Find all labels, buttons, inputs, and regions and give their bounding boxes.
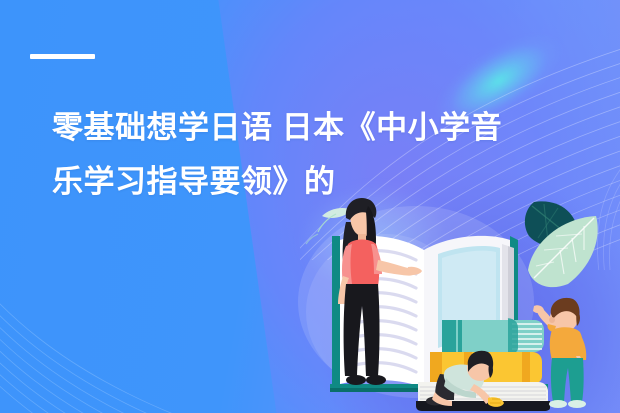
education-books-illustration — [296, 192, 620, 413]
banner-image: 零基础想学日语 日本《中小学音乐学习指导要领》的 — [0, 0, 620, 413]
accent-dash — [30, 54, 95, 59]
wave-lines-bottom-left-icon — [0, 230, 260, 413]
